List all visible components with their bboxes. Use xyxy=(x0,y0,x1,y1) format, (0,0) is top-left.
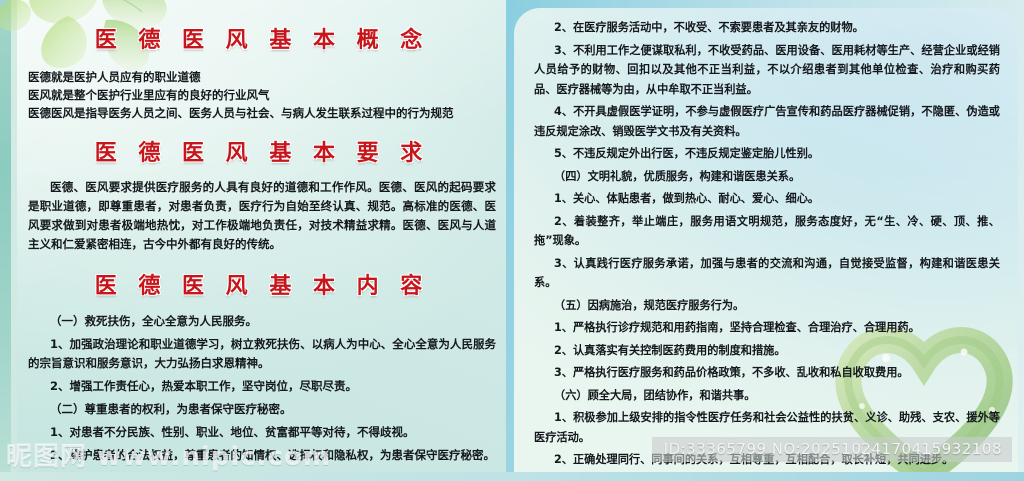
heading-basic-requirement: 医 德 医 风 基 本 要 求 xyxy=(28,135,496,167)
content-item: 1、加强政治理论和职业道德学习，树立救死扶伤、以病人为中心、全心全意为人民服务的… xyxy=(28,335,496,373)
content-item: （四）文明礼貌，优质服务，构建和谐医患关系。 xyxy=(534,167,1000,187)
content-left-list: （一）救死扶伤，全心全意为人民服务。 1、加强政治理论和职业道德学习，树立救死扶… xyxy=(28,312,496,481)
left-content: 医 德 医 风 基 本 概 念 医德就是医护人员应有的职业道德 医风就是整个医护… xyxy=(28,0,496,481)
content-item: 2、在医疗服务活动中，不收受、不索要患者及其亲友的财物。 xyxy=(534,18,1000,38)
content-item: 3、认真践行医疗服务承诺，加强与患者的交流和沟通，自觉接受监督，构建和谐医患关系… xyxy=(534,254,1000,293)
content-item: 1、对患者不分民族、性别、职业、地位、贫富都平等对待，不得歧视。 xyxy=(28,423,496,442)
content-item: 4、不开具虚假医学证明，不参与虚假医疗广告宣传和药品医疗器械促销，不隐匿、伪造或… xyxy=(534,102,1000,141)
content-item: （二）尊重患者的权利，为患者保守医疗秘密。 xyxy=(28,400,496,419)
concept-lines: 医德就是医护人员应有的职业道德 医风就是整个医护行业里应有的良好的行业风气 医德… xyxy=(28,68,496,122)
requirement-paragraph: 医德、医风要求提供医疗服务的人具有良好的道德和工作作风。医德、医风的起码要求是职… xyxy=(28,178,496,254)
content-item: （一）救死扶伤，全心全意为人民服务。 xyxy=(28,312,496,331)
content-item: （五）因病施治，规范医疗服务行为。 xyxy=(534,296,1000,316)
concept-line: 医风就是整个医护行业里应有的良好的行业风气 xyxy=(28,86,496,104)
bottom-band xyxy=(0,472,1024,481)
content-item: 2、着装整齐，举止端庄，服务用语文明规范，服务态度好，无“生、冷、硬、顶、推、拖… xyxy=(534,212,1000,251)
right-panel: 2、在医疗服务活动中，不收受、不索要患者及其亲友的财物。 3、不利用工作之便谋取… xyxy=(514,8,1018,474)
content-item: 1、严格执行诊疗规范和用药指南，坚持合理检查、合理治疗、合理用药。 xyxy=(534,318,1000,338)
content-item: 2、维护患者的合法权益，尊重患者的知情权、选择权和隐私权，为患者保守医疗秘密。 xyxy=(28,446,496,465)
heading-basic-concept: 医 德 医 风 基 本 概 念 xyxy=(28,22,496,54)
concept-line: 医德就是医护人员应有的职业道德 xyxy=(28,68,496,86)
content-item: 1、积极参加上级安排的指令性医疗任务和社会公益性的扶贫、义诊、助残、支农、援外等… xyxy=(534,408,1000,447)
right-content: 2、在医疗服务活动中，不收受、不索要患者及其亲友的财物。 3、不利用工作之便谋取… xyxy=(534,18,1000,474)
left-edge-accent-strip xyxy=(0,0,11,481)
content-item: （六）顾全大局，团结协作，和谐共事。 xyxy=(534,386,1000,406)
content-item: 5、不违反规定外出行医，不违反规定鉴定胎儿性别。 xyxy=(534,144,1000,164)
heading-basic-content: 医 德 医 风 基 本 内 容 xyxy=(28,268,496,300)
content-item: 2、正确处理同行、同事间的关系，互相尊重，互相配合，取长补短，共同进步。 xyxy=(534,450,1000,470)
left-panel: 医 德 医 风 基 本 概 念 医德就是医护人员应有的职业道德 医风就是整个医护… xyxy=(0,0,506,481)
concept-line: 医德医风是指导医务人员之间、医务人员与社会、与病人发生联系过程中的行为规范 xyxy=(28,104,496,122)
content-item: 3、不利用工作之便谋取私利，不收受药品、医用设备、医用耗材等生产、经营企业或经销… xyxy=(534,41,1000,100)
poster-canvas: 医 德 医 风 基 本 概 念 医德就是医护人员应有的职业道德 医风就是整个医护… xyxy=(0,0,1024,481)
left-edge-inner-strip xyxy=(11,0,17,481)
content-item: 2、认真落实有关控制医药费用的制度和措施。 xyxy=(534,341,1000,361)
content-item: 3、严格执行医疗服务和药品价格政策，不多收、乱收和私自收取费用。 xyxy=(534,363,1000,383)
content-item: 2、增强工作责任心，热爱本职工作，坚守岗位，尽职尽责。 xyxy=(28,377,496,396)
content-item: 1、关心、体贴患者，做到热心、耐心、爱心、细心。 xyxy=(534,189,1000,209)
